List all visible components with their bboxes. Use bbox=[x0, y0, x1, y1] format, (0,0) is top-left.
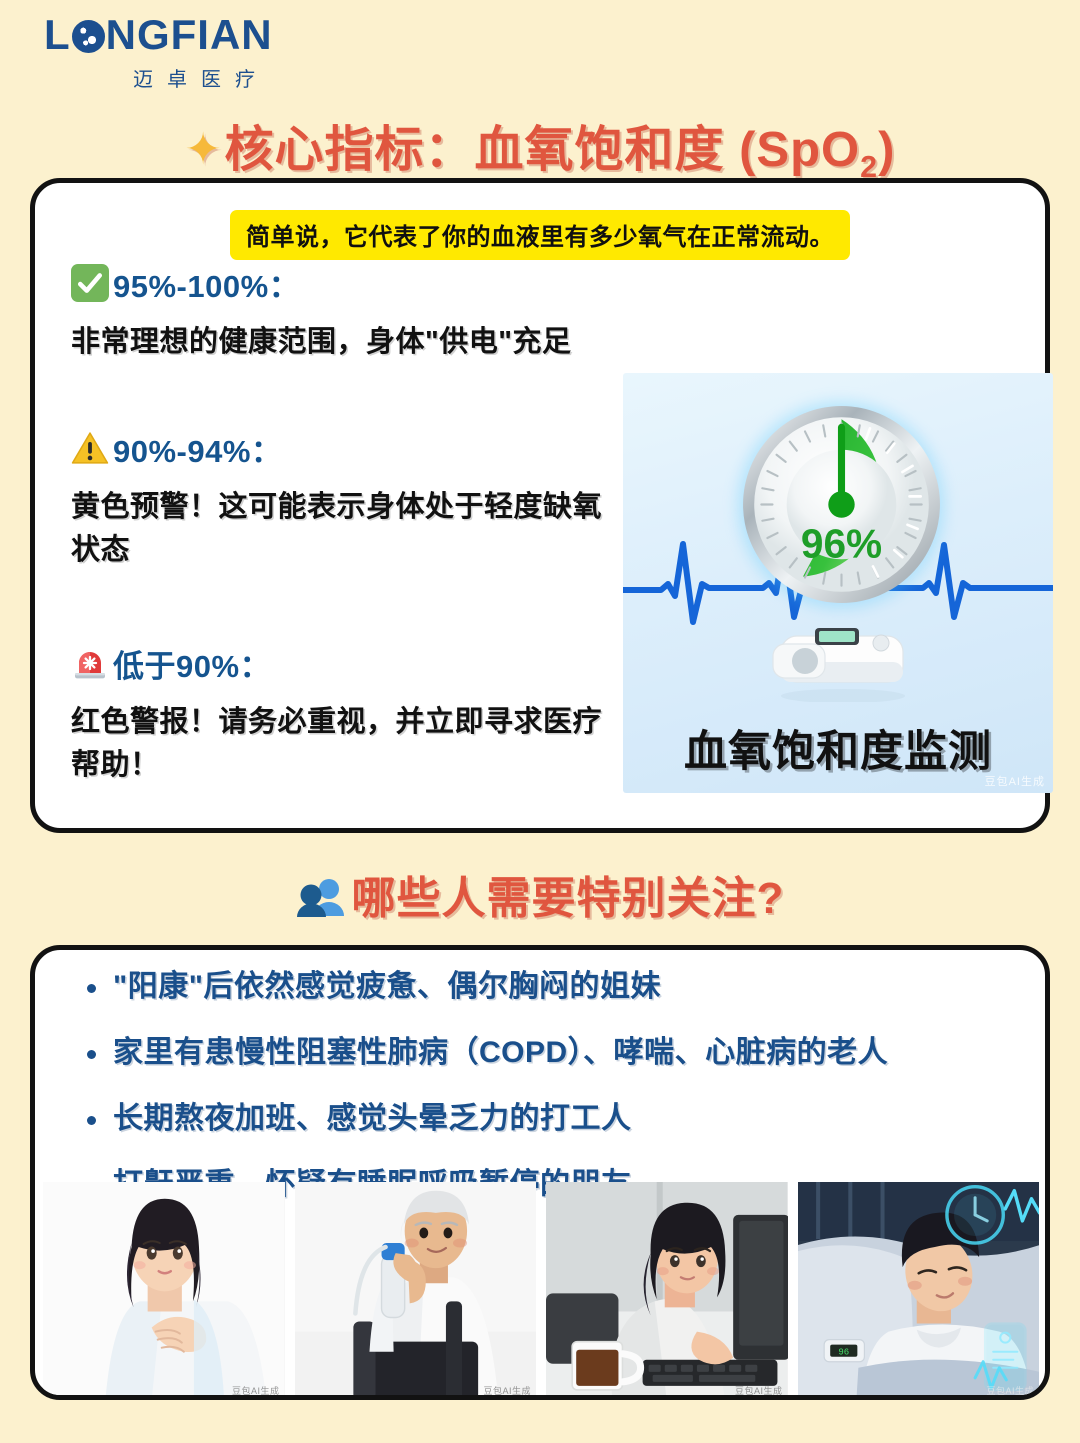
highlight-row: 简单说，它代表了你的血液里有多少氧气在正常流动。 bbox=[35, 210, 1045, 260]
photo-woman-at-computer: 豆包AI生成 bbox=[546, 1182, 788, 1400]
list-item: "阳康"后依然感觉疲惫、偶尔胸闷的姐妹 bbox=[75, 972, 1035, 1002]
globe-icon bbox=[72, 20, 105, 53]
siren-icon bbox=[71, 644, 109, 682]
image-watermark: 豆包AI生成 bbox=[985, 773, 1045, 789]
photo-elderly-man-oxygen: 豆包AI生成 bbox=[295, 1182, 537, 1400]
who-should-watch-card: "阳康"后依然感觉疲惫、偶尔胸闷的姐妹 家里有患慢性阻塞性肺病（COPD）、哮喘… bbox=[30, 945, 1050, 1400]
brand-name-cn: 迈卓医疗 bbox=[44, 63, 344, 92]
range-warning-label: 90%-94%： bbox=[113, 426, 282, 471]
photo-watermark: 豆包AI生成 bbox=[483, 1384, 531, 1397]
sparkles-icon: ✦ bbox=[185, 124, 223, 175]
section2-title-text: 哪些人需要特别关注? bbox=[352, 874, 785, 923]
range-normal-label: 95%-100%： bbox=[113, 261, 300, 306]
range-critical-label: 低于90%： bbox=[113, 641, 271, 686]
spo2-monitor-image: 96% 血氧饱和度监测 豆包AI生成 bbox=[623, 373, 1053, 793]
photo-man-sleeping-monitoring: 96 豆包AI生成 bbox=[798, 1182, 1040, 1400]
svg-text:96: 96 bbox=[838, 1347, 849, 1358]
range-warning: 90%-94%： 黄色预警！这可能表示身体处于轻度缺氧状态 bbox=[71, 428, 631, 572]
range-warning-head: 90%-94%： bbox=[71, 428, 631, 468]
range-normal: 95%-100%： 非常理想的健康范围，身体"供电"充足 bbox=[71, 263, 631, 364]
pulse-oximeter-device-icon bbox=[759, 616, 923, 702]
list-item: 家里有患慢性阻塞性肺病（COPD）、哮喘、心脏病的老人 bbox=[75, 1038, 1035, 1068]
warning-triangle-icon bbox=[71, 429, 109, 467]
list-item: 长期熬夜加班、感觉头晕乏力的打工人 bbox=[75, 1104, 1035, 1134]
brand-logo: L NGFIAN 迈卓医疗 bbox=[44, 14, 344, 92]
spo2-card: 简单说，它代表了你的血液里有多少氧气在正常流动。 95%-100%： 非常理想的… bbox=[30, 178, 1050, 833]
photo-strip: 豆包AI生成 bbox=[35, 1182, 1047, 1400]
range-warning-text: 黄色预警！这可能表示身体处于轻度缺氧状态 bbox=[71, 486, 631, 572]
page-title: ✦核心指标：血氧饱和度 (SpO2) bbox=[0, 110, 1080, 185]
people-icon bbox=[296, 877, 348, 917]
definition-highlight: 简单说，它代表了你的血液里有多少氧气在正常流动。 bbox=[230, 210, 850, 260]
logo-letter-l: L bbox=[44, 14, 71, 56]
gauge-caption: 血氧饱和度监测 bbox=[623, 717, 1053, 779]
photo-watermark: 豆包AI生成 bbox=[735, 1384, 783, 1397]
photo-watermark: 豆包AI生成 bbox=[986, 1384, 1034, 1397]
photo-watermark: 豆包AI生成 bbox=[232, 1384, 280, 1397]
range-normal-text: 非常理想的健康范围，身体"供电"充足 bbox=[71, 321, 631, 364]
gauge-dial: 96% bbox=[740, 403, 943, 606]
brand-name-en: L NGFIAN bbox=[44, 14, 344, 56]
page-title-close: ) bbox=[878, 123, 895, 177]
logo-letters-rest: NGFIAN bbox=[106, 14, 273, 56]
page-title-text: 核心指标：血氧饱和度 (SpO bbox=[224, 123, 860, 177]
range-critical: 低于90%： 红色警报！请务必重视，并立即寻求医疗帮助！ bbox=[71, 643, 631, 787]
photo-young-woman-chest: 豆包AI生成 bbox=[43, 1182, 285, 1400]
gauge-reading: 96% bbox=[801, 520, 882, 566]
section2-title: 哪些人需要特别关注? bbox=[0, 862, 1080, 926]
range-normal-head: 95%-100%： bbox=[71, 263, 631, 303]
range-critical-head: 低于90%： bbox=[71, 643, 631, 683]
range-critical-text: 红色警报！请务必重视，并立即寻求医疗帮助！ bbox=[71, 701, 631, 787]
check-mark-icon bbox=[71, 264, 109, 302]
